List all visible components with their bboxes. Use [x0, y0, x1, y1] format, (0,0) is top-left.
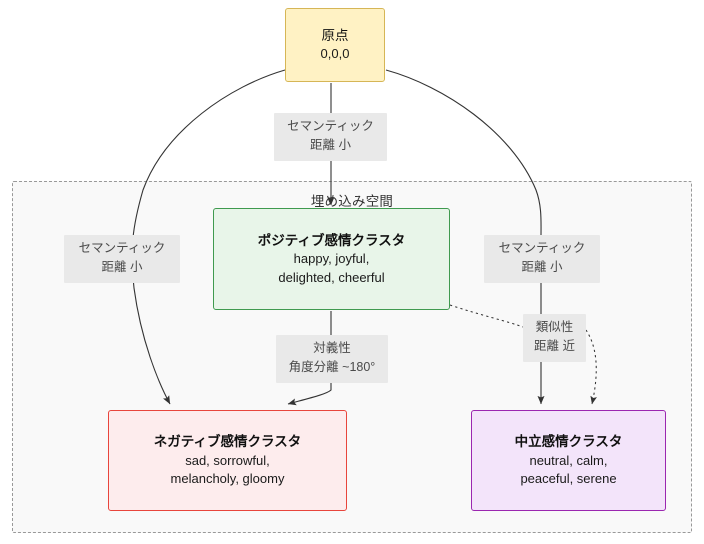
node-negative-cluster[interactable]: ネガティブ感情クラスタ sad, sorrowful, melancholy, … — [108, 410, 347, 511]
node-origin-subtitle: 0,0,0 — [321, 45, 350, 63]
edge-label-similarity: 類似性 距離 近 — [523, 314, 586, 362]
edge-label-origin-positive: セマンティック 距離 小 — [274, 113, 387, 161]
node-positive-subtitle: happy, joyful, delighted, cheerful — [278, 250, 384, 287]
edge-label-origin-neutral: セマンティック 距離 小 — [484, 235, 600, 283]
node-origin[interactable]: 原点 0,0,0 — [285, 8, 385, 82]
edge-label-origin-negative: セマンティック 距離 小 — [64, 235, 180, 283]
node-positive-title: ポジティブ感情クラスタ — [258, 231, 405, 250]
node-neutral-title: 中立感情クラスタ — [515, 432, 623, 451]
node-negative-subtitle: sad, sorrowful, melancholy, gloomy — [171, 452, 285, 489]
embedding-space-label: 埋め込み空間 — [0, 190, 704, 210]
diagram-canvas: 埋め込み空間 原点 0,0,0 ポジティブ感情クラスタ happy, joyfu… — [0, 0, 704, 544]
node-neutral-cluster[interactable]: 中立感情クラスタ neutral, calm, peaceful, serene — [471, 410, 666, 511]
edge-label-antonym: 対義性 角度分離 ~180° — [276, 335, 388, 383]
node-positive-cluster[interactable]: ポジティブ感情クラスタ happy, joyful, delighted, ch… — [213, 208, 450, 310]
node-origin-title: 原点 — [322, 26, 349, 45]
node-neutral-subtitle: neutral, calm, peaceful, serene — [520, 452, 616, 489]
node-negative-title: ネガティブ感情クラスタ — [154, 432, 301, 451]
